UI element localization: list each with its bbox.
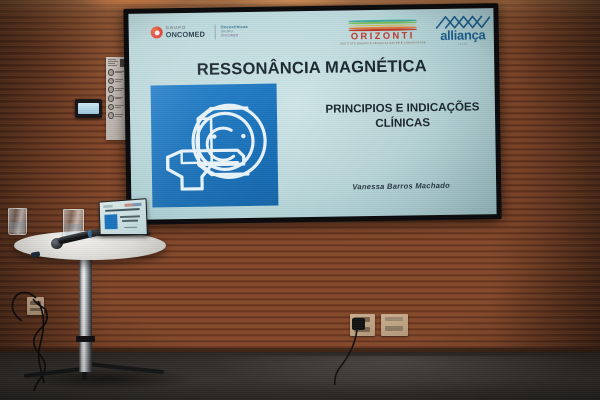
water-glass-left[interactable] [8,208,27,235]
laptop-slide-mirror [100,199,147,234]
laptop-screen[interactable] [99,198,148,235]
laptop-slide-author [124,227,137,229]
laptop-slide-line-1 [120,215,140,218]
table-pedestal [79,252,92,372]
laptop-slide-image [104,214,117,229]
laptop-slide-line-2 [122,220,138,222]
presentation-room-photo: GRUPO ONCOMED Oncoclínicas GRUPO ONCOMED [0,0,600,400]
laptop-slide-title [105,208,139,212]
cable-strap [76,336,95,342]
